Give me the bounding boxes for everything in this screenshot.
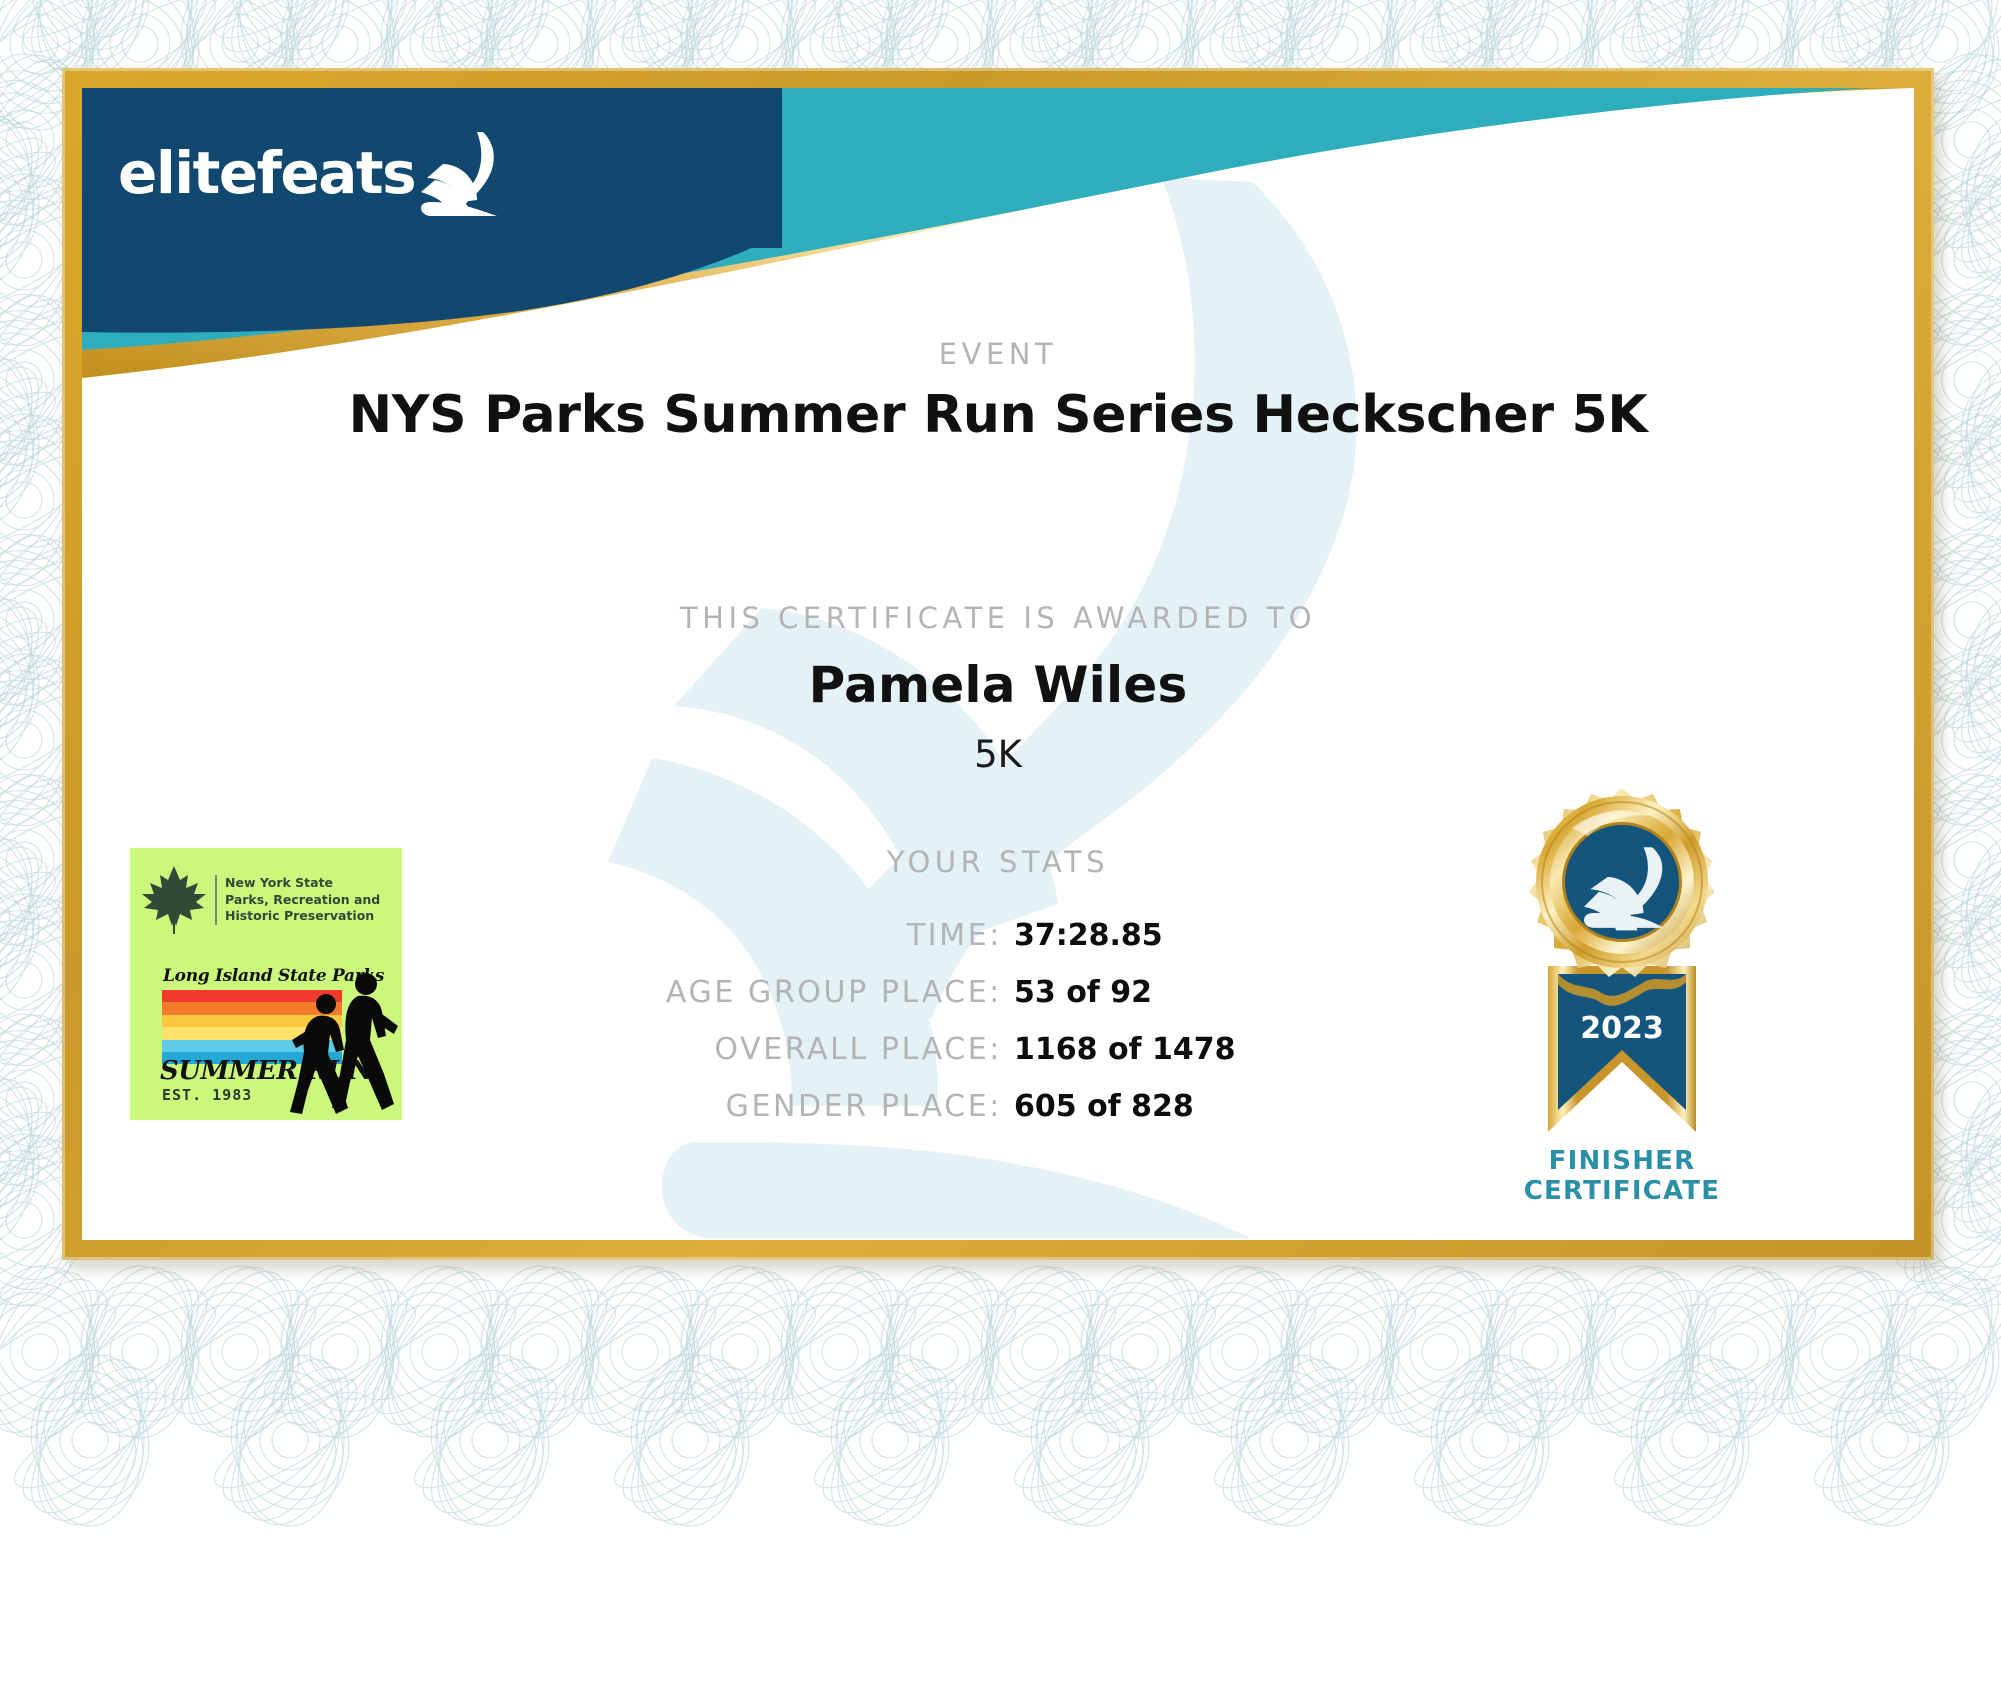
nys-parks-logo: New York State Parks, Recreation and His… bbox=[140, 864, 380, 936]
series-established: EST. 1983 bbox=[162, 1086, 252, 1104]
brand-wordmark: elitefeats bbox=[118, 144, 415, 202]
award-rosette-icon: 2023 bbox=[1472, 776, 1772, 1176]
certificate-card: elitefeats EVENT NYS Parks Summer Run Se… bbox=[82, 88, 1914, 1240]
nys-agency-line-3: Historic Preservation bbox=[225, 908, 380, 925]
medal-caption-line-2: CERTIFICATE bbox=[1472, 1176, 1772, 1206]
medal-caption: FINISHER CERTIFICATE bbox=[1472, 1146, 1772, 1206]
maple-leaf-icon bbox=[140, 864, 208, 936]
participant-name: Pamela Wiles bbox=[82, 656, 1914, 714]
nys-agency-name: New York State Parks, Recreation and His… bbox=[215, 875, 380, 925]
stat-value: 37:28.85 bbox=[1002, 918, 1163, 953]
summer-run-logo: Long Island State Parks SUMMER RUN EST. … bbox=[138, 966, 394, 1116]
event-kicker-label: EVENT bbox=[82, 337, 1914, 371]
awarded-to-label: THIS CERTIFICATE IS AWARDED TO bbox=[82, 601, 1914, 635]
stat-value: 605 of 828 bbox=[1002, 1089, 1194, 1124]
event-title: NYS Parks Summer Run Series Heckscher 5K bbox=[82, 385, 1914, 445]
stat-value: 53 of 92 bbox=[1002, 975, 1152, 1010]
participant-distance: 5K bbox=[82, 733, 1914, 776]
brand-logo: elitefeats bbox=[118, 130, 509, 216]
sponsor-logo-summer-run: New York State Parks, Recreation and His… bbox=[130, 848, 402, 1120]
medal-caption-line-1: FINISHER bbox=[1472, 1146, 1772, 1176]
medal-year: 2023 bbox=[1580, 1011, 1664, 1046]
winged-foot-icon bbox=[421, 130, 509, 216]
nys-agency-line-2: Parks, Recreation and bbox=[225, 892, 380, 909]
certificate-page: elitefeats EVENT NYS Parks Summer Run Se… bbox=[0, 0, 2001, 1700]
runners-silhouette-icon bbox=[286, 970, 402, 1118]
nys-agency-line-1: New York State bbox=[225, 875, 380, 892]
stat-value: 1168 of 1478 bbox=[1002, 1032, 1236, 1067]
